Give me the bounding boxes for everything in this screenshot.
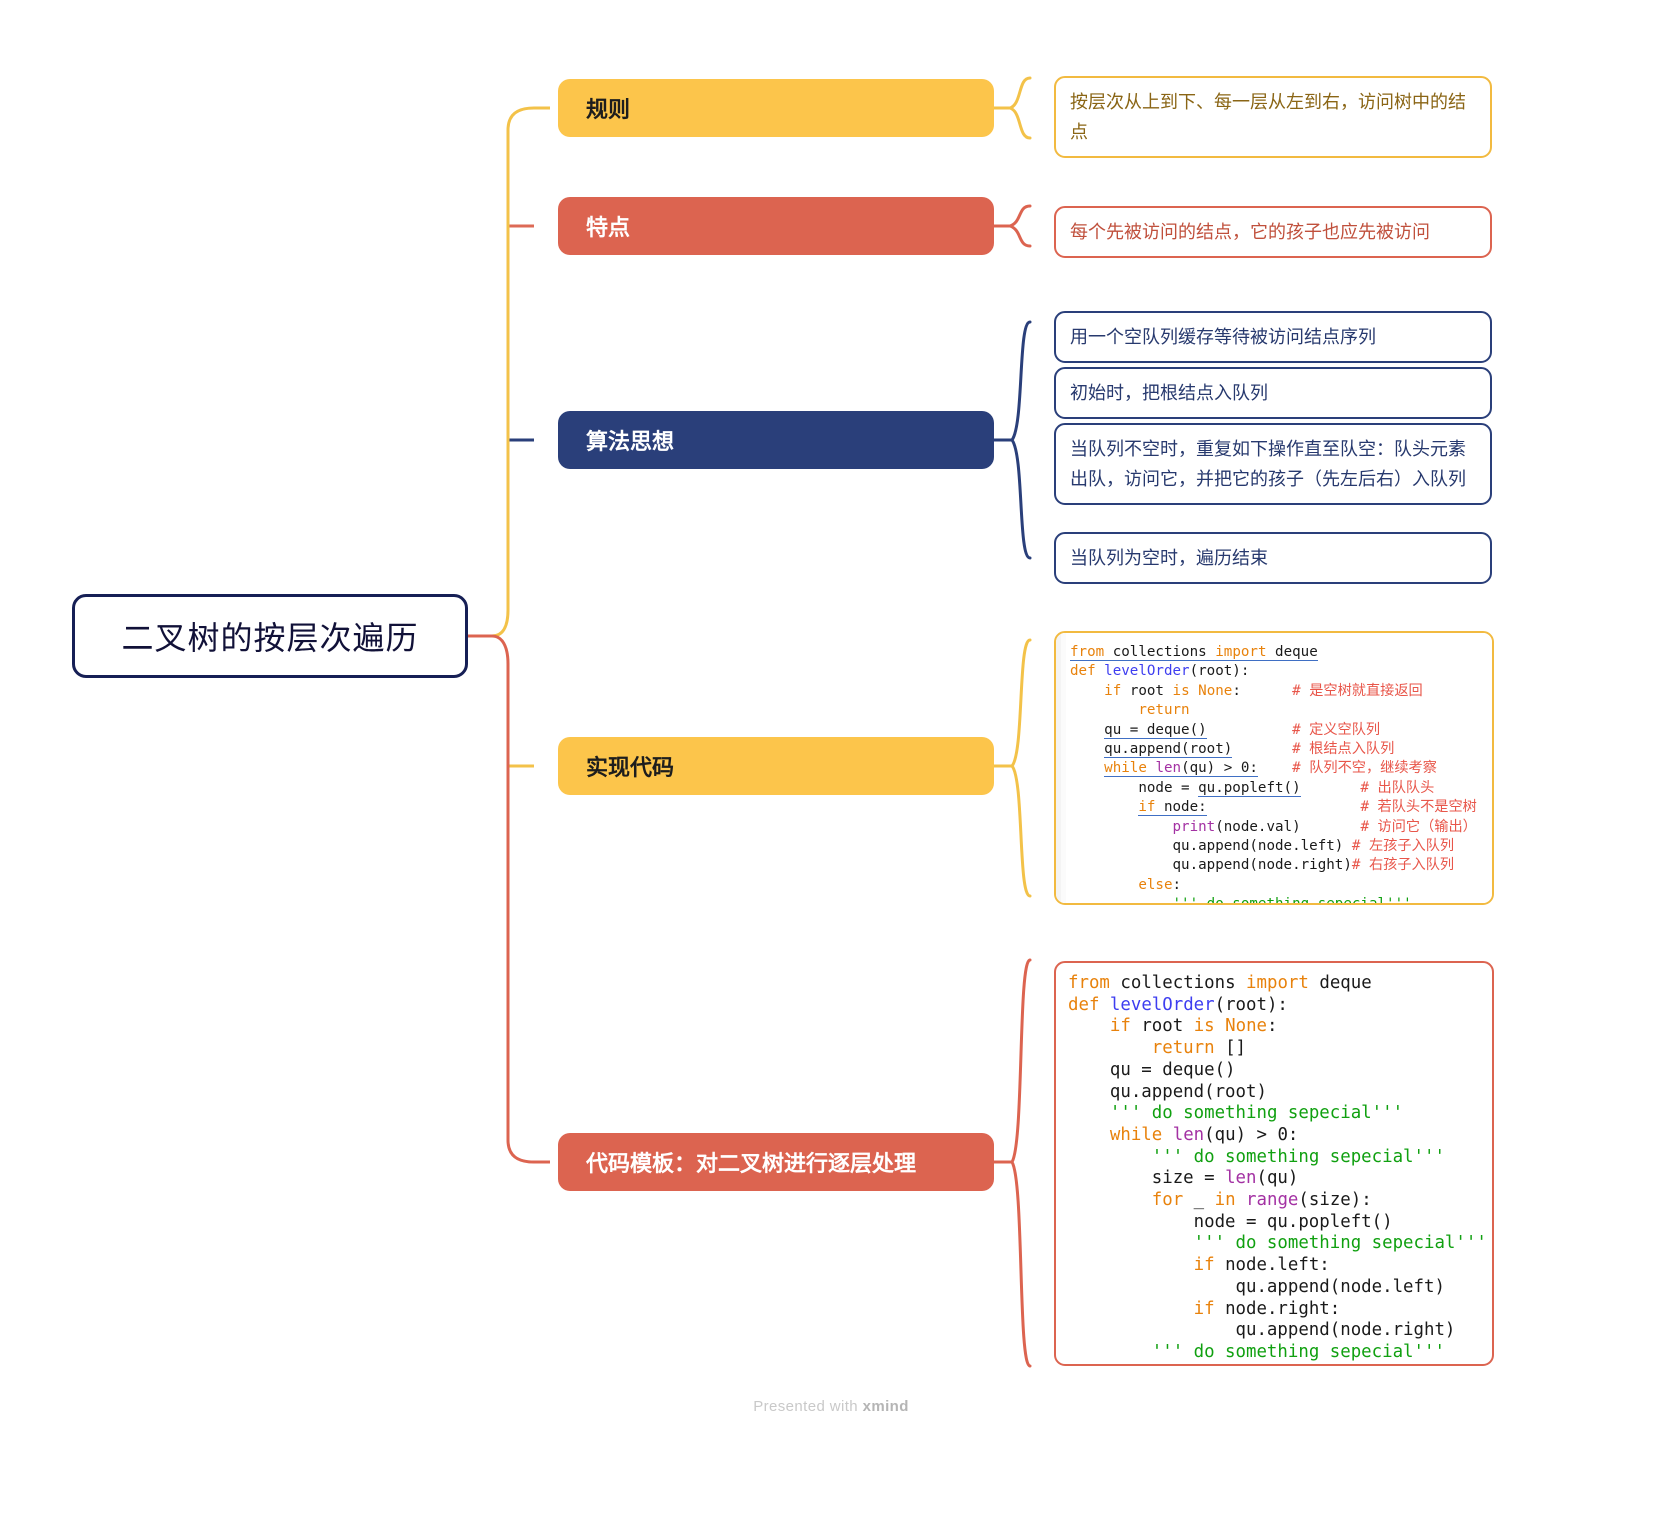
leaf-rules-1[interactable]: 按层次从上到下、每一层从左到右，访问树中的结点 <box>1054 76 1492 158</box>
topic-algorithm[interactable]: 算法思想 <box>558 411 994 469</box>
topic-implementation[interactable]: 实现代码 <box>558 737 994 795</box>
root-topic[interactable]: 二叉树的按层次遍历 <box>72 594 468 678</box>
watermark-prefix: Presented with <box>753 1398 862 1415</box>
topic-features[interactable]: 特点 <box>558 197 994 255</box>
leaf-algorithm-3[interactable]: 当队列不空时，重复如下操作直至队空：队头元素出队，访问它，并把它的孩子（先左后右… <box>1054 423 1492 505</box>
leaf-algorithm-4[interactable]: 当队列为空时，遍历结束 <box>1054 532 1492 584</box>
leaf-algorithm-1[interactable]: 用一个空队列缓存等待被访问结点序列 <box>1054 311 1492 363</box>
code-block-template[interactable]: from collections import deque def levelO… <box>1054 961 1494 1366</box>
leaf-algorithm-2[interactable]: 初始时，把根结点入队列 <box>1054 367 1492 419</box>
code-block-implementation[interactable]: from collections import deque def levelO… <box>1054 631 1494 905</box>
leaf-features-1[interactable]: 每个先被访问的结点，它的孩子也应先被访问 <box>1054 206 1492 258</box>
topic-rules[interactable]: 规则 <box>558 79 994 137</box>
watermark-brand: xmind <box>863 1398 909 1415</box>
topic-template[interactable]: 代码模板：对二叉树进行逐层处理 <box>558 1133 994 1191</box>
code-template-text: from collections import deque def levelO… <box>1056 963 1492 1366</box>
xmind-watermark: Presented with xmind <box>0 1398 1662 1415</box>
code-implementation-text: from collections import deque def levelO… <box>1056 633 1492 905</box>
mindmap-canvas: 二叉树的按层次遍历 规则 按层次从上到下、每一层从左到右，访问树中的结点 特点 … <box>0 0 1662 1527</box>
